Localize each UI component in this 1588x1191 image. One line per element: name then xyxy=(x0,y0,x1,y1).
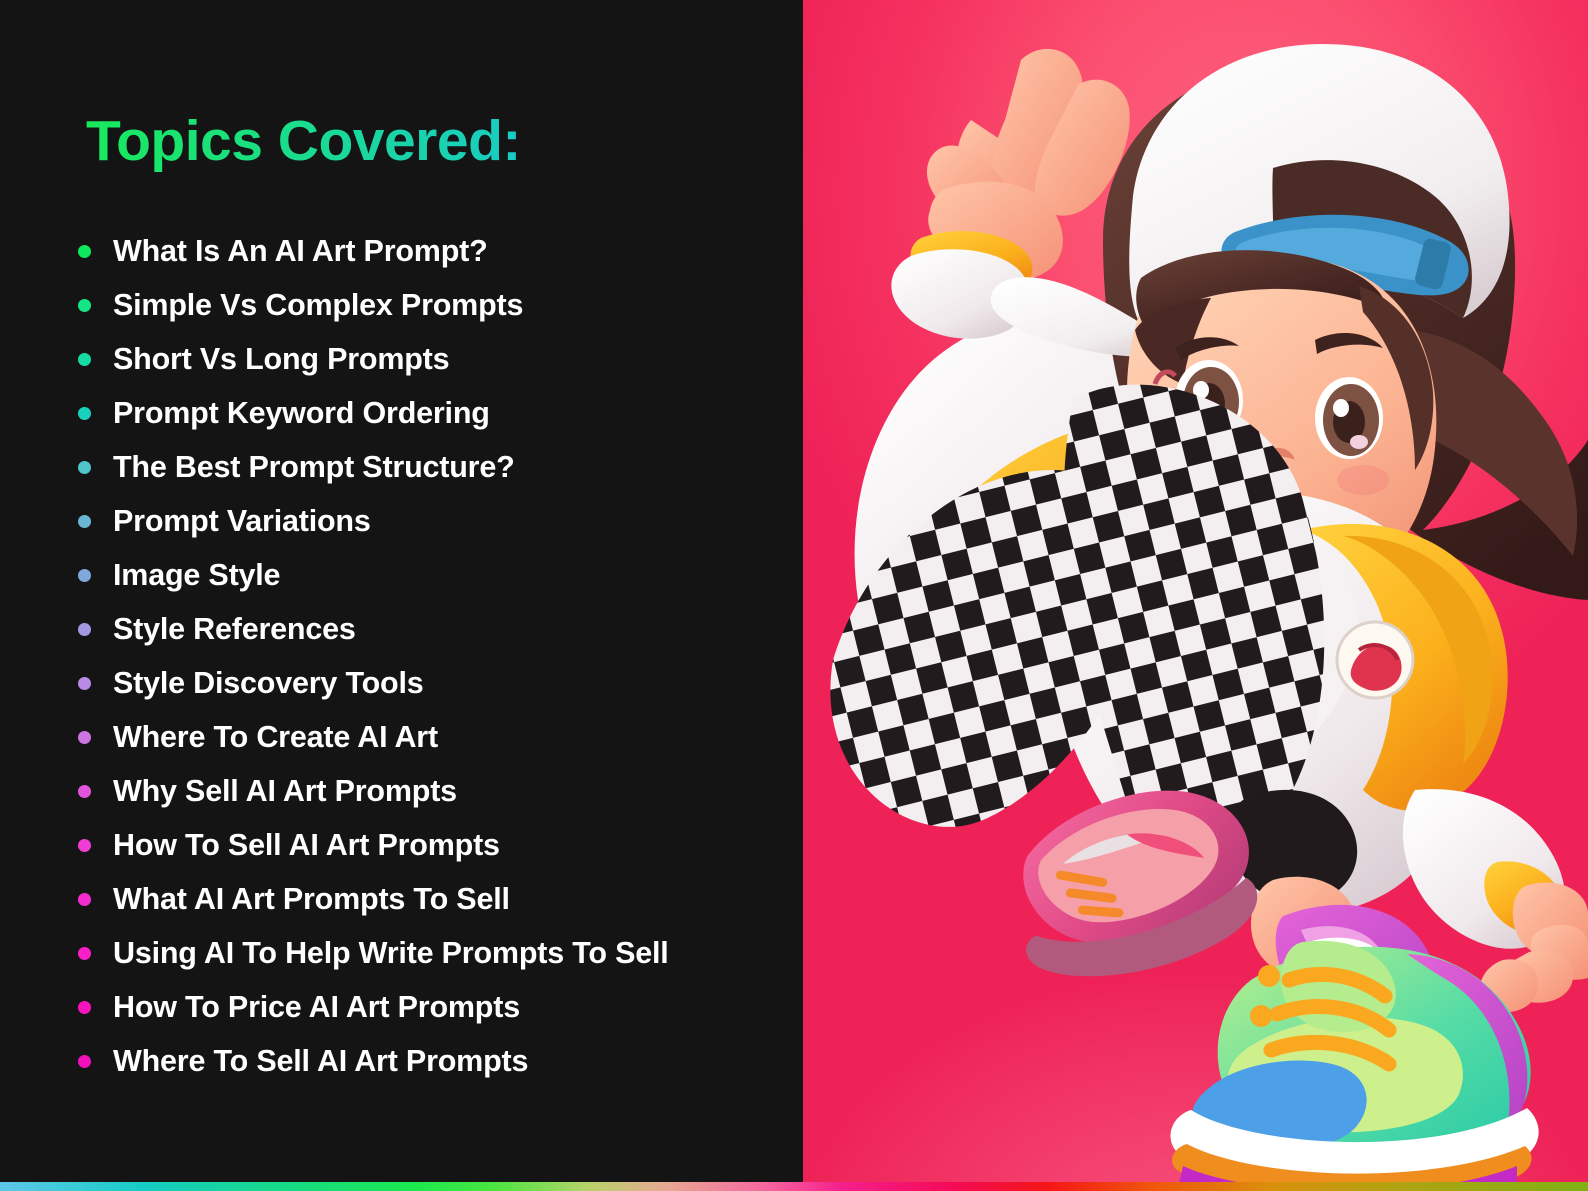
bullet-dot-icon xyxy=(78,839,91,852)
list-item[interactable]: Where To Sell AI Art Prompts xyxy=(78,1034,778,1088)
bullet-dot-icon xyxy=(78,245,91,258)
topic-label: Style References xyxy=(113,612,356,647)
topic-label: Short Vs Long Prompts xyxy=(113,342,449,377)
bullet-dot-icon xyxy=(78,677,91,690)
bullet-dot-icon xyxy=(78,947,91,960)
bullet-dot-icon xyxy=(78,623,91,636)
bullet-dot-icon xyxy=(78,299,91,312)
bullet-dot-icon xyxy=(78,353,91,366)
topic-label: Image Style xyxy=(113,558,280,593)
list-item[interactable]: Image Style xyxy=(78,548,778,602)
list-item[interactable]: Why Sell AI Art Prompts xyxy=(78,764,778,818)
topics-panel: Topics Covered: What Is An AI Art Prompt… xyxy=(0,0,803,1191)
topic-label: How To Sell AI Art Prompts xyxy=(113,828,500,863)
topics-list: What Is An AI Art Prompt?Simple Vs Compl… xyxy=(78,224,778,1088)
list-item[interactable]: How To Sell AI Art Prompts xyxy=(78,818,778,872)
list-item[interactable]: Where To Create AI Art xyxy=(78,710,778,764)
topic-label: Where To Sell AI Art Prompts xyxy=(113,1044,528,1079)
topic-label: Style Discovery Tools xyxy=(113,666,424,701)
bullet-dot-icon xyxy=(78,569,91,582)
topic-label: Why Sell AI Art Prompts xyxy=(113,774,457,809)
topic-label: What Is An AI Art Prompt? xyxy=(113,234,488,269)
list-item[interactable]: Prompt Variations xyxy=(78,494,778,548)
bullet-dot-icon xyxy=(78,731,91,744)
bullet-dot-icon xyxy=(78,1001,91,1014)
slide-root: Topics Covered: What Is An AI Art Prompt… xyxy=(0,0,1588,1191)
list-item[interactable]: The Best Prompt Structure? xyxy=(78,440,778,494)
bullet-dot-icon xyxy=(78,407,91,420)
topic-label: Using AI To Help Write Prompts To Sell xyxy=(113,936,669,971)
topic-label: Simple Vs Complex Prompts xyxy=(113,288,523,323)
list-item[interactable]: What Is An AI Art Prompt? xyxy=(78,224,778,278)
topic-label: How To Price AI Art Prompts xyxy=(113,990,520,1025)
list-item[interactable]: Simple Vs Complex Prompts xyxy=(78,278,778,332)
topic-label: Where To Create AI Art xyxy=(113,720,438,755)
list-item[interactable]: How To Price AI Art Prompts xyxy=(78,980,778,1034)
topic-label: Prompt Keyword Ordering xyxy=(113,396,490,431)
bottom-gradient-bar xyxy=(0,1182,1588,1191)
list-item[interactable]: Prompt Keyword Ordering xyxy=(78,386,778,440)
character-illustration-panel xyxy=(803,0,1588,1191)
bullet-dot-icon xyxy=(78,893,91,906)
bullet-dot-icon xyxy=(78,1055,91,1068)
topic-label: Prompt Variations xyxy=(113,504,371,539)
topic-label: What AI Art Prompts To Sell xyxy=(113,882,510,917)
bullet-dot-icon xyxy=(78,515,91,528)
bullet-dot-icon xyxy=(78,785,91,798)
topic-label: The Best Prompt Structure? xyxy=(113,450,515,485)
list-item[interactable]: Short Vs Long Prompts xyxy=(78,332,778,386)
list-item[interactable]: What AI Art Prompts To Sell xyxy=(78,872,778,926)
list-item[interactable]: Style References xyxy=(78,602,778,656)
character-illustration xyxy=(803,0,1588,1191)
bullet-dot-icon xyxy=(78,461,91,474)
list-item[interactable]: Style Discovery Tools xyxy=(78,656,778,710)
page-title: Topics Covered: xyxy=(86,108,521,174)
list-item[interactable]: Using AI To Help Write Prompts To Sell xyxy=(78,926,778,980)
